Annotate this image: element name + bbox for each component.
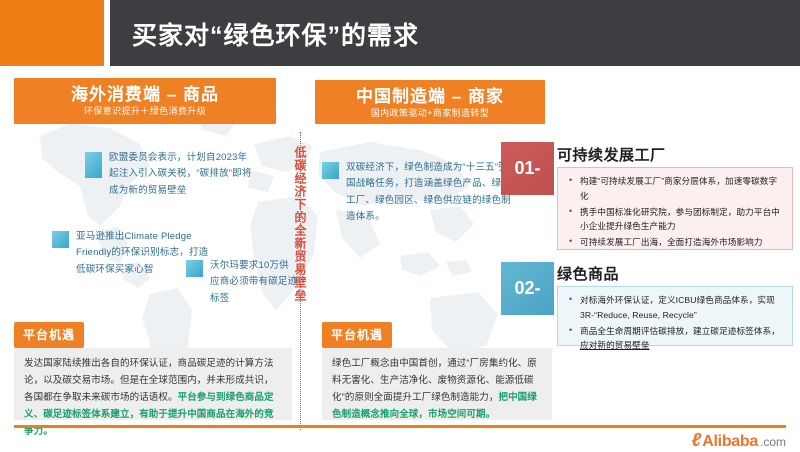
square-marker-icon: [52, 231, 69, 248]
alibaba-logo-mark-icon: ℓ: [691, 430, 700, 452]
banner-subtitle: 国内政策驱动+商家制造转型: [315, 107, 545, 120]
list-item-underlined-text: 应对新的贸易壁垒: [580, 340, 650, 350]
list-item: 可持续发展工厂出海，全面打造海外市场影响力: [580, 235, 784, 250]
list-item: 对标海外环保认证，定义ICBU绿色商品体系，实现3R-“Reduce, Reus…: [580, 293, 784, 323]
banner-subtitle: 环保意识提升＋绿色消费升级: [14, 105, 276, 118]
note-text: 双碳经济下，绿色制造成为“十三五”强国战略任务，打造涵盖绿色产品、绿色工厂、绿色…: [346, 160, 516, 225]
section-title-sustainable-factory: 可持续发展工厂: [557, 144, 666, 165]
platform-opportunity-tab-2: 平台机遇: [322, 322, 392, 348]
note-china-green-manufacturing: 双碳经济下，绿色制造成为“十三五”强国战略任务，打造涵盖绿色产品、绿色工厂、绿色…: [322, 160, 516, 225]
section-box-02: 对标海外环保认证，定义ICBU绿色商品体系，实现3R-“Reduce, Reus…: [557, 286, 793, 346]
platform-opportunity-tab-1: 平台机遇: [14, 322, 84, 348]
section-badge-02: 02-: [501, 262, 554, 315]
alibaba-logo: ℓ Alibaba .com: [691, 430, 786, 452]
bullet-list-02: 对标海外环保认证，定义ICBU绿色商品体系，实现3R-“Reduce, Reus…: [562, 293, 784, 353]
section-badge-01: 01-: [501, 142, 554, 195]
note-eu-carbon-tariff: 欧盟委员会表示，计划自2023年起注入引入碳关税，“碳排放”即将成为新的贸易壁垒: [85, 150, 257, 199]
square-marker-icon: [85, 152, 102, 178]
platform-opportunity-body-1: 发达国家陆续推出各自的环保认证，商品碳足迹的计算方法论，以及碳交易市场。但是在全…: [14, 348, 292, 420]
list-item: 商品全生命周期评估碳排放，建立碳足迹标签体系，应对新的贸易壁垒: [580, 324, 784, 354]
platform-opportunity-body-2: 绿色工厂概念由中国首创，通过“厂房集约化、原料无害化、生产洁净化、废物资源化、能…: [322, 348, 552, 420]
header-accent-block: [0, 0, 104, 66]
alibaba-logo-word: Alibaba: [702, 433, 758, 451]
slide-canvas: 买家对“绿色环保”的需求: [0, 0, 800, 452]
alibaba-logo-dotcom: .com: [760, 435, 786, 449]
footer-divider: [14, 425, 786, 428]
square-marker-icon: [322, 162, 339, 179]
list-item: 构建“可持续发展工厂”商家分层体系，加速零碳数字化: [580, 174, 784, 204]
bullet-list-01: 构建“可持续发展工厂”商家分层体系，加速零碳数字化 携手中国标准化研究院，参与团…: [562, 174, 784, 250]
list-item-text: 商品全生命周期评估碳排放，建立碳足迹标签体系，: [580, 326, 780, 336]
banner-title: 中国制造端 – 商家: [315, 86, 545, 107]
section-title-green-products: 绿色商品: [557, 263, 619, 284]
note-text: 沃尔玛要求10万供应商必须带有碳足迹标签: [210, 258, 298, 307]
section-box-01: 构建“可持续发展工厂”商家分层体系，加速零碳数字化 携手中国标准化研究院，参与团…: [557, 167, 793, 250]
banner-overseas-consumer: 海外消费端 – 商品 环保意识提升＋绿色消费升级: [14, 78, 276, 124]
square-marker-icon: [186, 260, 203, 277]
page-title: 买家对“绿色环保”的需求: [132, 16, 419, 52]
banner-china-manufacturing: 中国制造端 – 商家 国内政策驱动+商家制造转型: [315, 80, 545, 124]
banner-title: 海外消费端 – 商品: [14, 84, 276, 105]
list-item-text: 对标海外环保认证，定义ICBU绿色商品体系，实现3R-“Reduce, Reus…: [580, 295, 775, 320]
note-text: 欧盟委员会表示，计划自2023年起注入引入碳关税，“碳排放”即将成为新的贸易壁垒: [109, 150, 257, 199]
list-item: 携手中国标准化研究院，参与团标制定，助力平台中小企业提升绿色生产能力: [580, 205, 784, 235]
note-walmart-carbon-label: 沃尔玛要求10万供应商必须带有碳足迹标签: [186, 258, 298, 307]
